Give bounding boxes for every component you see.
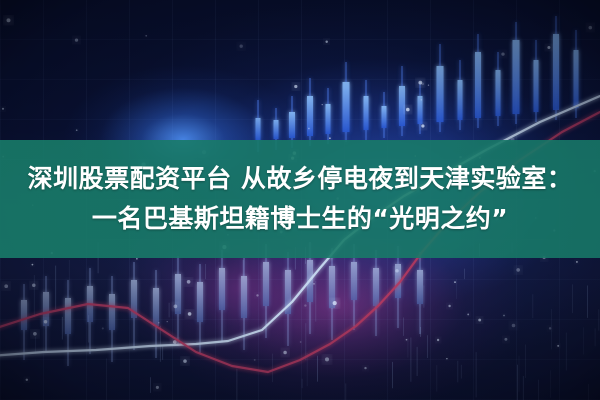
chart-sparkle bbox=[421, 82, 424, 85]
chart-sparkle bbox=[549, 327, 551, 329]
candlestick-body bbox=[241, 276, 247, 318]
candlestick-body bbox=[21, 300, 27, 330]
candlestick-body bbox=[307, 260, 313, 302]
chart-sparkle bbox=[75, 38, 78, 41]
candlestick-body bbox=[131, 280, 137, 318]
chart-sparkle bbox=[174, 305, 178, 309]
chart-sparkle bbox=[576, 261, 578, 263]
chart-sparkle bbox=[547, 46, 550, 49]
candlestick-body bbox=[496, 70, 501, 116]
candlestick-body bbox=[87, 286, 93, 322]
candlestick-body bbox=[274, 120, 279, 139]
chart-sparkle bbox=[300, 341, 302, 343]
chart-sparkle bbox=[448, 305, 450, 307]
chart-sparkle bbox=[304, 304, 306, 306]
candlestick-body bbox=[285, 270, 291, 314]
chart-sparkle bbox=[283, 351, 287, 355]
chart-sparkle bbox=[145, 35, 147, 37]
candlestick-body bbox=[373, 268, 379, 306]
chart-sparkle bbox=[308, 128, 310, 130]
candlestick-body bbox=[437, 66, 444, 122]
candlestick-body bbox=[289, 112, 295, 138]
banner-title-line-2: 一名巴基斯坦籍博士生的“光明之约” bbox=[92, 199, 508, 239]
chart-sparkle bbox=[32, 284, 36, 288]
chart-sparkle bbox=[322, 104, 323, 105]
chart-sparkle bbox=[467, 313, 469, 315]
chart-sparkle bbox=[406, 339, 408, 341]
candlestick-body bbox=[351, 262, 357, 300]
chart-sparkle bbox=[32, 264, 34, 266]
candlestick-body bbox=[574, 50, 579, 108]
candlestick-body bbox=[153, 288, 159, 326]
chart-sparkle bbox=[395, 269, 398, 272]
title-banner-band: 深圳股票配资平台 从故乡停电夜到天津实验室： 一名巴基斯坦籍博士生的“光明之约” bbox=[0, 140, 600, 258]
candlestick-body bbox=[513, 40, 520, 114]
candlestick-series-lower bbox=[21, 242, 423, 366]
chart-sparkle bbox=[503, 315, 505, 317]
chart-sparkle bbox=[446, 358, 447, 359]
chart-sparkle bbox=[437, 339, 439, 341]
chart-sparkle bbox=[187, 280, 191, 284]
chart-sparkle bbox=[478, 319, 481, 322]
candlestick-body bbox=[418, 96, 423, 124]
chart-sparkle bbox=[33, 332, 37, 336]
candlestick-series-upper bbox=[256, 16, 579, 152]
banner-title-line-1: 深圳股票配资平台 从故乡停电夜到天津实验室： bbox=[28, 159, 573, 199]
chart-sparkle bbox=[418, 81, 422, 85]
chart-sparkle bbox=[2, 108, 4, 110]
chart-sparkle bbox=[333, 301, 337, 305]
chart-sparkle bbox=[329, 137, 331, 139]
chart-sparkle bbox=[240, 45, 243, 48]
candlestick-body bbox=[197, 282, 203, 322]
chart-sparkle bbox=[158, 322, 159, 323]
chart-sparkle bbox=[188, 312, 192, 316]
chart-sparkle bbox=[512, 324, 516, 328]
chart-sparkle bbox=[589, 26, 593, 30]
candlestick-body bbox=[458, 80, 463, 120]
candlestick-body bbox=[263, 262, 269, 306]
candlestick-body bbox=[553, 34, 559, 110]
article-banner: 深圳股票配资平台 从故乡停电夜到天津实验室： 一名巴基斯坦籍博士生的“光明之约” bbox=[0, 0, 600, 400]
candlestick-body bbox=[256, 118, 261, 140]
chart-sparkle bbox=[167, 321, 168, 322]
chart-sparkle bbox=[406, 108, 410, 112]
chart-sparkle bbox=[136, 258, 138, 260]
chart-sparkle bbox=[325, 40, 327, 42]
chart-sparkle bbox=[156, 386, 159, 389]
chart-sparkle bbox=[364, 367, 366, 369]
chart-sparkle bbox=[421, 124, 424, 127]
chart-sparkle bbox=[501, 52, 504, 55]
candlestick-body bbox=[475, 52, 481, 118]
candlestick-body bbox=[175, 274, 181, 314]
chart-sparkle bbox=[421, 99, 423, 101]
chart-sparkle bbox=[454, 281, 456, 283]
chart-sparkle bbox=[7, 18, 11, 22]
candlestick-body bbox=[329, 266, 335, 308]
candlestick-body bbox=[109, 294, 115, 330]
candlestick-body bbox=[364, 96, 369, 130]
candlestick-body bbox=[43, 292, 49, 326]
candlestick-body bbox=[382, 106, 387, 128]
chart-sparkle bbox=[102, 327, 104, 329]
chart-sparkle bbox=[428, 85, 429, 86]
chart-sparkle bbox=[173, 340, 177, 344]
candlestick-body bbox=[219, 268, 225, 310]
candlestick-body bbox=[343, 82, 350, 132]
chart-sparkle bbox=[183, 359, 187, 363]
candlestick-body bbox=[326, 104, 331, 134]
chart-sparkle bbox=[325, 357, 329, 361]
chart-sparkle bbox=[254, 359, 256, 361]
chart-sparkle bbox=[256, 294, 258, 296]
candlestick-body bbox=[534, 60, 539, 112]
candlestick-body bbox=[65, 298, 71, 334]
chart-sparkle bbox=[557, 345, 559, 347]
chart-sparkle bbox=[504, 338, 507, 341]
chart-sparkle bbox=[313, 283, 314, 284]
chart-sparkle bbox=[294, 85, 297, 88]
chart-sparkle bbox=[516, 268, 520, 272]
chart-sparkle bbox=[26, 379, 28, 381]
candlestick-body bbox=[307, 96, 313, 136]
candlestick-body bbox=[417, 270, 423, 304]
chart-sparkle bbox=[4, 284, 8, 288]
candlestick-body bbox=[395, 264, 401, 298]
candlestick-body bbox=[399, 86, 405, 126]
chart-sparkle bbox=[44, 320, 48, 324]
chart-sparkle bbox=[76, 129, 78, 131]
